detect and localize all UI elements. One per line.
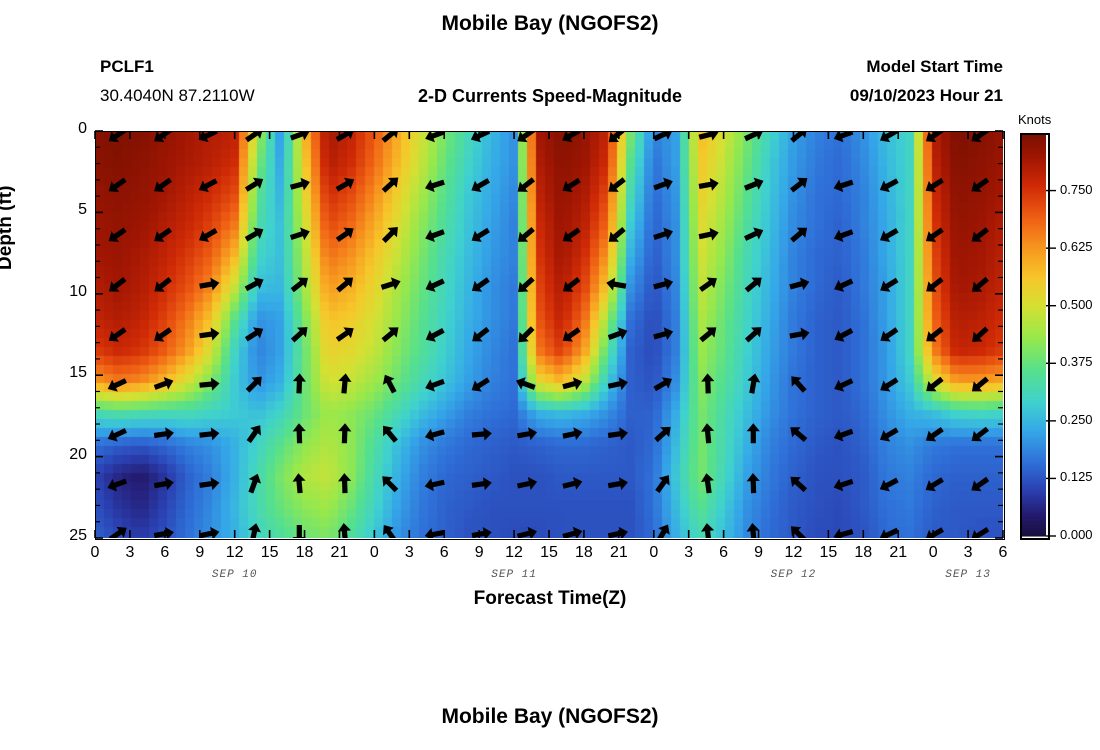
current-arrow bbox=[293, 473, 306, 493]
current-arrow bbox=[293, 525, 306, 538]
current-arrow bbox=[472, 477, 492, 490]
colorbar-tick-label: 0.750 bbox=[1060, 182, 1093, 197]
current-arrow bbox=[926, 131, 944, 142]
current-arrow bbox=[701, 423, 714, 443]
day-label: SEP 11 bbox=[474, 569, 554, 581]
heatmap-plot-area bbox=[95, 131, 1003, 538]
day-label: SEP 13 bbox=[928, 569, 1008, 581]
current-arrow bbox=[745, 278, 762, 293]
current-arrow bbox=[293, 423, 306, 443]
current-arrow bbox=[834, 429, 854, 442]
current-arrow bbox=[656, 525, 670, 539]
current-arrow bbox=[563, 327, 581, 341]
current-arrow bbox=[747, 523, 760, 538]
figure-root: Mobile Bay (NGOFS2) PCLF1 30.4040N 87.21… bbox=[0, 0, 1100, 750]
current-arrow bbox=[834, 180, 854, 193]
y-tick-label: 25 bbox=[47, 527, 87, 545]
current-arrow bbox=[563, 228, 581, 242]
current-arrow bbox=[654, 427, 671, 442]
current-arrow bbox=[472, 228, 490, 242]
current-arrow bbox=[880, 478, 899, 492]
current-arrow bbox=[518, 177, 535, 192]
current-arrow bbox=[562, 527, 582, 538]
current-arrow bbox=[790, 228, 807, 243]
current-arrow bbox=[517, 477, 537, 490]
current-arrow bbox=[608, 377, 628, 390]
current-arrow bbox=[972, 227, 989, 242]
colorbar-tick-label: 0.375 bbox=[1060, 354, 1093, 369]
y-tick-label: 20 bbox=[47, 446, 87, 464]
current-arrow bbox=[472, 277, 490, 292]
current-arrow bbox=[291, 278, 308, 293]
current-arrow bbox=[382, 327, 399, 342]
current-arrow bbox=[336, 131, 355, 142]
current-arrow bbox=[925, 527, 944, 538]
current-arrow bbox=[109, 527, 127, 538]
current-arrow bbox=[382, 178, 399, 193]
current-arrow bbox=[744, 228, 763, 241]
page-title: Mobile Bay (NGOFS2) bbox=[0, 12, 1100, 36]
current-arrow bbox=[880, 377, 898, 391]
colorbar bbox=[1020, 133, 1046, 536]
station-id: PCLF1 bbox=[100, 57, 154, 77]
current-arrow bbox=[199, 228, 218, 242]
current-arrow bbox=[971, 527, 989, 538]
current-arrow bbox=[699, 327, 716, 342]
current-arrow bbox=[971, 477, 989, 492]
colorbar-units-label: Knots bbox=[1018, 112, 1051, 127]
current-arrow bbox=[383, 375, 397, 394]
x-axis-label: Forecast Time(Z) bbox=[0, 588, 1100, 610]
current-arrow bbox=[972, 427, 989, 442]
current-arrow bbox=[701, 473, 714, 493]
current-arrow bbox=[880, 428, 899, 442]
current-arrow bbox=[834, 328, 853, 342]
current-arrow bbox=[701, 523, 714, 538]
current-arrow bbox=[336, 327, 354, 341]
current-arrow bbox=[425, 379, 445, 392]
current-arrow bbox=[972, 277, 989, 292]
y-axis-label: Depth (ft) bbox=[0, 186, 17, 270]
current-arrow bbox=[154, 178, 172, 192]
current-arrow bbox=[425, 229, 445, 242]
current-arrow bbox=[425, 429, 445, 442]
current-arrow bbox=[699, 228, 719, 241]
current-arrow bbox=[699, 131, 719, 141]
current-arrow bbox=[926, 327, 943, 342]
current-arrow bbox=[517, 131, 535, 142]
current-arrow bbox=[791, 477, 808, 492]
current-arrow bbox=[744, 178, 764, 191]
current-arrow bbox=[383, 426, 398, 443]
current-arrow bbox=[517, 427, 537, 440]
current-arrow bbox=[382, 476, 398, 492]
current-arrow bbox=[338, 423, 351, 443]
current-arrow bbox=[471, 131, 490, 142]
current-arrow bbox=[926, 477, 944, 491]
current-arrow bbox=[245, 277, 264, 291]
current-arrow bbox=[472, 527, 492, 538]
current-arrow bbox=[747, 374, 760, 394]
current-arrow bbox=[791, 526, 807, 538]
current-arrow bbox=[606, 278, 626, 291]
current-arrow bbox=[107, 479, 127, 492]
current-arrow bbox=[926, 228, 944, 242]
current-arrow bbox=[472, 377, 490, 391]
current-arrow bbox=[154, 477, 174, 490]
current-arrow bbox=[245, 178, 263, 192]
colorbar-tick-label: 0.625 bbox=[1060, 239, 1093, 254]
current-arrow bbox=[834, 378, 853, 391]
current-arrow bbox=[154, 327, 172, 341]
current-arrow bbox=[653, 228, 673, 241]
current-arrow bbox=[245, 228, 264, 242]
current-arrow bbox=[926, 377, 943, 392]
current-arrow bbox=[199, 328, 219, 341]
current-arrow bbox=[472, 327, 489, 342]
current-arrow bbox=[519, 326, 535, 342]
current-arrow bbox=[608, 177, 625, 192]
current-arrow bbox=[338, 523, 351, 538]
current-arrow bbox=[699, 278, 717, 292]
current-arrow bbox=[653, 178, 673, 191]
y-tick-label: 15 bbox=[47, 364, 87, 382]
model-start-time-value: 09/10/2023 Hour 21 bbox=[850, 86, 1003, 106]
y-tick-label: 0 bbox=[47, 120, 87, 138]
current-arrow bbox=[246, 377, 262, 393]
current-arrow bbox=[790, 131, 807, 143]
current-arrow bbox=[834, 229, 854, 242]
current-arrow bbox=[880, 228, 899, 242]
current-arrow bbox=[245, 131, 263, 142]
current-arrow bbox=[608, 527, 628, 538]
current-arrow bbox=[336, 178, 355, 192]
current-arrow bbox=[154, 427, 174, 440]
current-arrow bbox=[336, 278, 353, 293]
current-arrow bbox=[562, 427, 582, 440]
current-arrow bbox=[109, 277, 126, 292]
colorbar-tick-label: 0.125 bbox=[1060, 469, 1093, 484]
current-arrow bbox=[517, 527, 537, 538]
current-arrow bbox=[245, 327, 263, 341]
current-arrow bbox=[699, 178, 719, 191]
current-arrow bbox=[472, 427, 492, 440]
current-arrow bbox=[972, 327, 989, 342]
current-arrow bbox=[109, 327, 127, 341]
current-direction-arrows bbox=[95, 131, 1003, 538]
current-arrow bbox=[516, 377, 536, 390]
current-arrow bbox=[926, 178, 944, 192]
current-arrow bbox=[926, 427, 944, 441]
current-arrow bbox=[199, 527, 219, 538]
current-arrow bbox=[290, 228, 310, 241]
current-arrow bbox=[154, 527, 174, 538]
current-arrow bbox=[248, 523, 261, 538]
current-arrow bbox=[926, 277, 943, 292]
current-arrow bbox=[199, 378, 219, 391]
current-arrow bbox=[338, 473, 351, 493]
current-arrow bbox=[834, 131, 854, 142]
current-arrow bbox=[518, 227, 535, 242]
current-arrow bbox=[518, 277, 535, 292]
current-arrow bbox=[109, 131, 127, 142]
colorbar-tick-label: 0.250 bbox=[1060, 412, 1093, 427]
current-arrow bbox=[789, 278, 809, 291]
current-arrow bbox=[199, 477, 219, 490]
current-arrow bbox=[790, 427, 807, 442]
current-arrow bbox=[290, 131, 310, 141]
current-arrow bbox=[747, 423, 760, 443]
current-arrow bbox=[425, 528, 445, 538]
colorbar-gradient bbox=[1020, 133, 1046, 536]
current-arrow bbox=[562, 178, 580, 192]
current-arrow bbox=[880, 178, 899, 192]
current-arrow bbox=[382, 227, 398, 243]
current-arrow bbox=[109, 228, 127, 242]
current-arrow bbox=[336, 228, 354, 242]
current-arrow bbox=[701, 373, 714, 393]
day-label: SEP 12 bbox=[753, 569, 833, 581]
current-arrow bbox=[293, 373, 306, 393]
x-tick-label: 6 bbox=[983, 544, 1023, 562]
colorbar-tick-label: 0.000 bbox=[1060, 527, 1093, 542]
current-arrow bbox=[834, 479, 854, 492]
current-arrow bbox=[382, 131, 399, 143]
bottom-title: Mobile Bay (NGOFS2) bbox=[0, 705, 1100, 729]
current-arrow bbox=[291, 327, 308, 342]
current-arrow bbox=[744, 131, 763, 141]
current-arrow bbox=[154, 377, 174, 390]
current-arrow bbox=[608, 327, 628, 340]
current-arrow bbox=[154, 228, 172, 242]
current-arrow bbox=[338, 373, 351, 393]
current-arrow bbox=[562, 477, 582, 490]
current-arrow bbox=[154, 277, 171, 292]
current-arrow bbox=[425, 478, 445, 491]
current-arrow bbox=[609, 131, 626, 142]
current-arrow bbox=[971, 178, 989, 192]
current-arrow bbox=[791, 376, 806, 393]
current-arrow bbox=[880, 528, 899, 538]
current-arrow bbox=[609, 227, 626, 242]
current-arrow bbox=[655, 475, 669, 493]
current-arrow bbox=[834, 279, 853, 292]
current-arrow bbox=[745, 327, 762, 342]
current-arrow bbox=[199, 178, 218, 192]
current-arrow bbox=[247, 425, 261, 443]
y-tick-label: 5 bbox=[47, 201, 87, 219]
current-arrow bbox=[154, 131, 172, 142]
current-arrow bbox=[653, 377, 672, 391]
current-arrow bbox=[199, 427, 219, 440]
current-arrow bbox=[471, 178, 490, 192]
current-arrow bbox=[653, 278, 673, 291]
y-tick-label: 10 bbox=[47, 283, 87, 301]
current-arrow bbox=[563, 277, 580, 292]
current-arrow bbox=[880, 278, 898, 292]
model-start-time-label: Model Start Time bbox=[866, 57, 1003, 77]
current-arrow bbox=[653, 327, 673, 340]
current-arrow bbox=[789, 328, 809, 341]
colorbar-tick-label: 0.500 bbox=[1060, 297, 1093, 312]
current-arrow bbox=[834, 529, 854, 539]
current-arrow bbox=[653, 131, 672, 141]
current-arrow bbox=[199, 131, 218, 142]
current-arrow bbox=[425, 180, 445, 193]
current-arrow bbox=[108, 378, 127, 391]
current-arrow bbox=[880, 327, 898, 341]
current-arrow bbox=[199, 278, 219, 291]
current-arrow bbox=[426, 328, 445, 342]
current-arrow bbox=[608, 477, 628, 490]
current-arrow bbox=[972, 377, 989, 392]
current-arrow bbox=[747, 473, 760, 493]
current-arrow bbox=[880, 131, 899, 142]
current-arrow bbox=[383, 525, 397, 538]
current-arrow bbox=[971, 131, 989, 142]
current-arrow bbox=[426, 279, 445, 292]
current-arrow bbox=[608, 427, 628, 440]
current-arrow bbox=[109, 178, 127, 192]
current-arrow bbox=[790, 178, 807, 193]
current-arrow bbox=[425, 131, 445, 142]
current-arrow bbox=[381, 277, 401, 290]
current-arrow bbox=[562, 377, 582, 390]
current-arrow bbox=[562, 131, 581, 142]
day-label: SEP 10 bbox=[195, 569, 275, 581]
current-arrow bbox=[290, 178, 310, 191]
current-arrow bbox=[108, 428, 127, 441]
current-arrow bbox=[248, 474, 261, 494]
